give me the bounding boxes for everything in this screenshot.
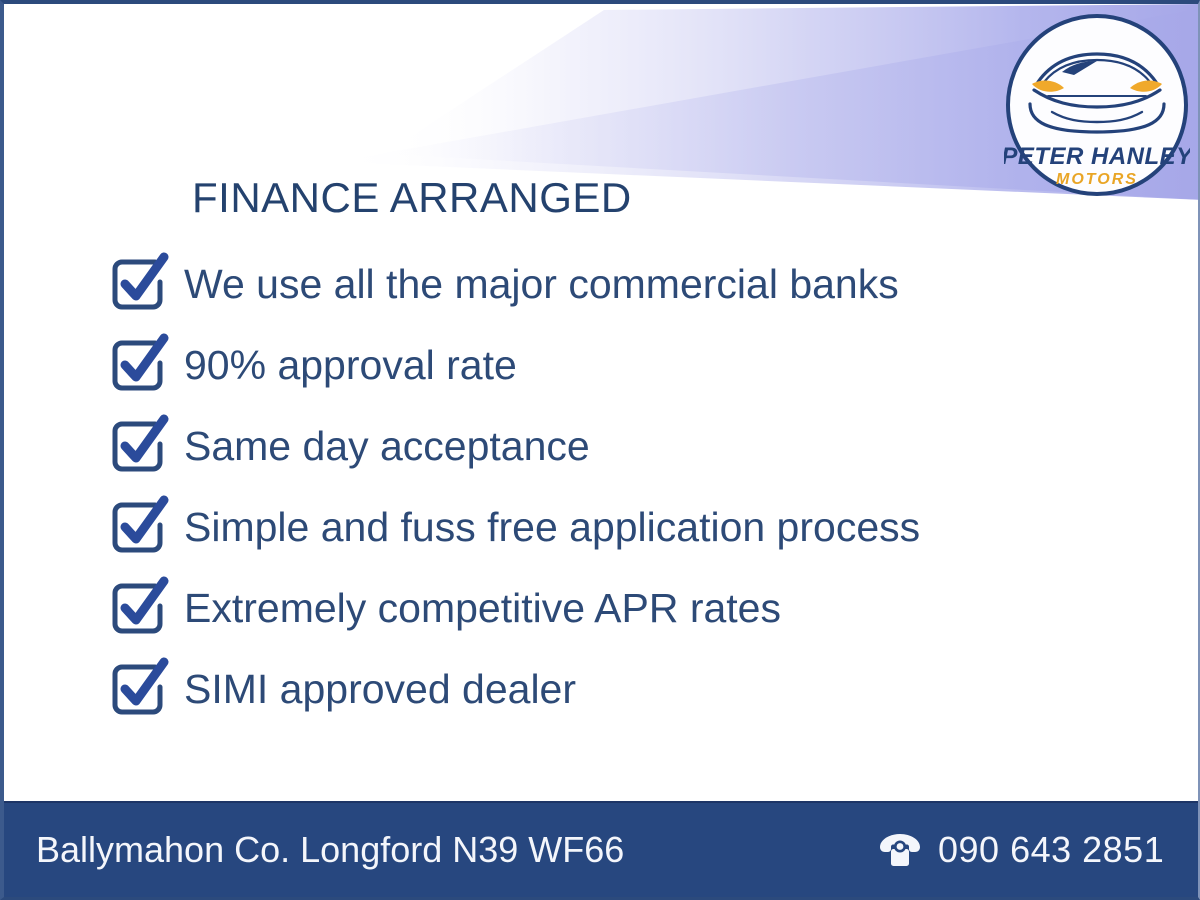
page-title: FINANCE ARRANGED: [192, 174, 632, 222]
checkbox-checked-icon: [108, 495, 170, 557]
banner-content: FINANCE ARRANGED We use all the major co…: [4, 4, 1200, 810]
list-item-label: 90% approval rate: [184, 345, 517, 386]
list-item-label: Simple and fuss free application process: [184, 507, 920, 548]
list-item: SIMI approved dealer: [108, 649, 1158, 730]
telephone-icon: [878, 832, 922, 868]
list-item-label: We use all the major commercial banks: [184, 264, 899, 305]
list-item-label: SIMI approved dealer: [184, 669, 576, 710]
footer-bar: Ballymahon Co. Longford N39 WF66 090 643…: [4, 801, 1198, 897]
checkbox-checked-icon: [108, 414, 170, 476]
checkbox-checked-icon: [108, 252, 170, 314]
phone-number[interactable]: 090 643 2851: [938, 829, 1164, 871]
checkbox-checked-icon: [108, 657, 170, 719]
list-item-label: Same day acceptance: [184, 426, 590, 467]
list-item: Same day acceptance: [108, 406, 1158, 487]
checkbox-checked-icon: [108, 333, 170, 395]
list-item: Extremely competitive APR rates: [108, 568, 1158, 649]
list-item: Simple and fuss free application process: [108, 487, 1158, 568]
checkbox-checked-icon: [108, 576, 170, 638]
footer-phone[interactable]: 090 643 2851: [878, 829, 1164, 871]
finance-arranged-banner: PETER HANLEY MOTORS FINANCE ARRANGED We …: [0, 0, 1200, 900]
list-item: 90% approval rate: [108, 325, 1158, 406]
feature-list: We use all the major commercial banks 90…: [108, 244, 1158, 730]
list-item-label: Extremely competitive APR rates: [184, 588, 781, 629]
list-item: We use all the major commercial banks: [108, 244, 1158, 325]
footer-address: Ballymahon Co. Longford N39 WF66: [36, 829, 624, 871]
